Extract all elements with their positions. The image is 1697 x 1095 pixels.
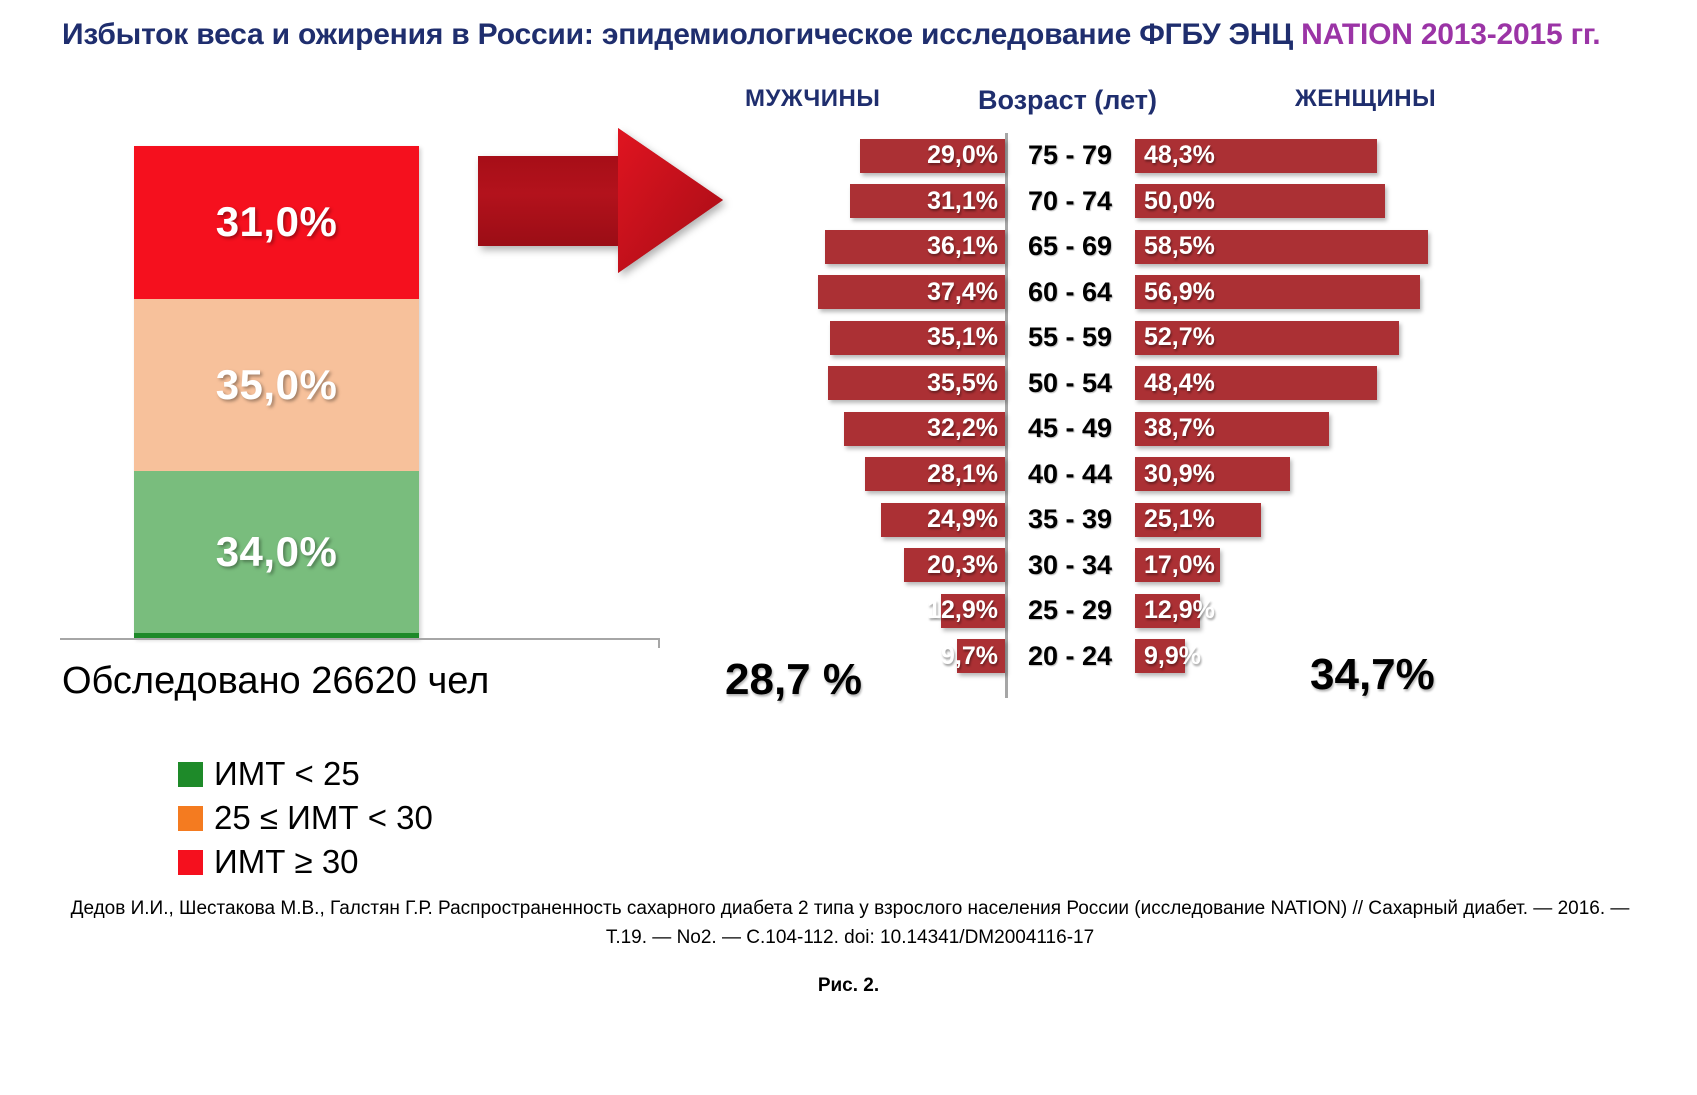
pyramid-age-label: 20 - 24 (1005, 641, 1135, 672)
pyramid-age-label: 40 - 44 (1005, 459, 1135, 490)
pyramid-bar-women-value: 12,9% (1144, 596, 1215, 625)
pyramid-bar-men: 9,7% (957, 639, 1006, 673)
pyramid-bar-men-value: 35,5% (927, 369, 998, 398)
right-arrow-icon (478, 128, 723, 368)
pyramid-row-men: 12,9% (700, 594, 1005, 628)
pyramid-bar-women: 30,9% (1135, 457, 1290, 491)
stack-segment-normal-label: 34,0% (216, 528, 338, 576)
pyramid-bar-men: 20,3% (904, 548, 1006, 582)
pyramid-age-label: 45 - 49 (1005, 413, 1135, 444)
pyramid-row: 28,1%40 - 4430,9% (700, 452, 1660, 498)
pyramid-row-women: 48,3% (1135, 139, 1635, 173)
pyramid-bar-women: 17,0% (1135, 548, 1220, 582)
pyramid-age-label: 25 - 29 (1005, 595, 1135, 626)
pyramid-bar-men: 31,1% (850, 184, 1006, 218)
pyramid-bar-women-value: 17,0% (1144, 551, 1215, 580)
page-title-accent: NATION 2013-2015 гг. (1301, 18, 1600, 51)
pyramid-row-women: 56,9% (1135, 275, 1635, 309)
pyramid-bar-women: 58,5% (1135, 230, 1428, 264)
pyramid-row-men: 37,4% (700, 275, 1005, 309)
pyramid-bar-women: 25,1% (1135, 503, 1261, 537)
pyramid-row: 35,5%50 - 5448,4% (700, 361, 1660, 407)
legend-item-normal-label: ИМТ < 25 (214, 755, 360, 793)
slide-canvas: Избыток веса и ожирения в России: эпидем… (0, 0, 1697, 1095)
pyramid-row-men: 35,5% (700, 366, 1005, 400)
pyramid-row-men: 35,1% (700, 321, 1005, 355)
legend-item-obese: ИМТ ≥ 30 (178, 840, 433, 884)
pyramid-bar-men-value: 28,1% (927, 460, 998, 489)
pyramid-bar-women-value: 58,5% (1144, 232, 1215, 261)
red-square-icon (178, 850, 203, 875)
pyramid-row: 37,4%60 - 6456,9% (700, 270, 1660, 316)
citation-text: Дедов И.И., Шестакова М.В., Галстян Г.Р.… (60, 895, 1640, 952)
pyramid-bar-women-value: 38,7% (1144, 414, 1215, 443)
stacked-bar-axis-line (60, 638, 660, 640)
pyramid-row-women: 12,9% (1135, 594, 1635, 628)
pyramid-row-men: 36,1% (700, 230, 1005, 264)
pyramid-bar-women-value: 25,1% (1144, 505, 1215, 534)
legend-item-overweight-label: 25 ≤ ИМТ < 30 (214, 799, 433, 837)
pyramid-bar-men: 35,1% (830, 321, 1006, 355)
stack-segment-normal: 34,0% (134, 471, 419, 638)
pyramid-header-women: ЖЕНЩИНЫ (1295, 85, 1436, 113)
pyramid-bar-men: 36,1% (825, 230, 1006, 264)
pyramid-age-label: 50 - 54 (1005, 368, 1135, 399)
pyramid-bar-women-value: 30,9% (1144, 460, 1215, 489)
pyramid-bar-men-value: 36,1% (927, 232, 998, 261)
stack-segment-overweight: 35,0% (134, 299, 419, 471)
stack-segment-obese: 31,0% (134, 146, 419, 299)
pyramid-bar-women-value: 56,9% (1144, 278, 1215, 307)
pyramid-row: 29,0%75 - 7948,3% (700, 133, 1660, 179)
pyramid-row-women: 48,4% (1135, 366, 1635, 400)
pyramid-bar-men-value: 29,0% (927, 141, 998, 170)
legend-item-normal: ИМТ < 25 (178, 752, 433, 796)
pyramid-bar-women-value: 9,9% (1144, 642, 1201, 671)
surveyed-count-label: Обследовано 26620 чел (62, 660, 489, 703)
pyramid-row-men: 28,1% (700, 457, 1005, 491)
pyramid-bar-men-value: 31,1% (927, 187, 998, 216)
pyramid-age-label: 55 - 59 (1005, 322, 1135, 353)
figure-caption: Рис. 2. (0, 975, 1697, 997)
pyramid-age-label: 35 - 39 (1005, 504, 1135, 535)
pyramid-bar-men-value: 35,1% (927, 323, 998, 352)
pyramid-bar-women-value: 48,4% (1144, 369, 1215, 398)
pyramid-bar-men: 28,1% (865, 457, 1006, 491)
pyramid-bar-men: 32,2% (844, 412, 1005, 446)
stacked-bar: 31,0% 35,0% 34,0% (134, 146, 419, 638)
pyramid-row-women: 58,5% (1135, 230, 1635, 264)
pyramid-bar-women: 9,9% (1135, 639, 1185, 673)
pyramid-row: 36,1%65 - 6958,5% (700, 224, 1660, 270)
pyramid-row-men: 32,2% (700, 412, 1005, 446)
pyramid-total-women: 34,7% (1310, 650, 1435, 700)
pyramid-bar-men: 29,0% (860, 139, 1005, 173)
pyramid-age-label: 70 - 74 (1005, 186, 1135, 217)
page-title-main: Избыток веса и ожирения в России: эпидем… (62, 18, 1301, 51)
pyramid-header-men: МУЖЧИНЫ (745, 85, 880, 113)
pyramid-row: 12,9%25 - 2912,9% (700, 588, 1660, 634)
pyramid-bar-men: 24,9% (881, 503, 1006, 537)
pyramid-bar-men-value: 37,4% (927, 278, 998, 307)
pyramid-bar-women: 12,9% (1135, 594, 1200, 628)
pyramid-age-label: 75 - 79 (1005, 140, 1135, 171)
pyramid-rows: 29,0%75 - 7948,3%31,1%70 - 7450,0%36,1%6… (700, 133, 1660, 679)
pyramid-bar-women: 38,7% (1135, 412, 1329, 446)
pyramid-bar-men: 35,5% (828, 366, 1006, 400)
pyramid-total-men: 28,7 % (725, 655, 862, 705)
pyramid-row: 31,1%70 - 7450,0% (700, 179, 1660, 225)
orange-square-icon (178, 806, 203, 831)
page-title: Избыток веса и ожирения в России: эпидем… (62, 18, 1632, 52)
pyramid-row-men: 24,9% (700, 503, 1005, 537)
pyramid-age-label: 65 - 69 (1005, 231, 1135, 262)
pyramid-bar-women: 50,0% (1135, 184, 1385, 218)
pyramid-row-men: 29,0% (700, 139, 1005, 173)
pyramid-row-men: 20,3% (700, 548, 1005, 582)
pyramid-bar-men: 12,9% (941, 594, 1006, 628)
pyramid-bar-women-value: 50,0% (1144, 187, 1215, 216)
pyramid-bar-women-value: 52,7% (1144, 323, 1215, 352)
stacked-bar-axis-tick (658, 638, 660, 648)
pyramid-age-label: 30 - 34 (1005, 550, 1135, 581)
pyramid-bar-women: 48,3% (1135, 139, 1377, 173)
pyramid-bar-women-value: 48,3% (1144, 141, 1215, 170)
pyramid-bar-men: 37,4% (818, 275, 1005, 309)
pyramid-row-women: 25,1% (1135, 503, 1635, 537)
age-pyramid-chart: МУЖЧИНЫ Возраст (лет) ЖЕНЩИНЫ 29,0%75 - … (700, 85, 1660, 705)
pyramid-row: 32,2%45 - 4938,7% (700, 406, 1660, 452)
pyramid-bar-men-value: 12,9% (927, 596, 998, 625)
stack-segment-obese-label: 31,0% (216, 198, 338, 246)
pyramid-header-age: Возраст (лет) (978, 85, 1157, 116)
pyramid-age-label: 60 - 64 (1005, 277, 1135, 308)
pyramid-row: 35,1%55 - 5952,7% (700, 315, 1660, 361)
pyramid-bar-women: 52,7% (1135, 321, 1399, 355)
pyramid-row: 24,9%35 - 3925,1% (700, 497, 1660, 543)
stack-segment-overweight-label: 35,0% (216, 361, 338, 409)
pyramid-bar-women: 48,4% (1135, 366, 1377, 400)
pyramid-row-women: 50,0% (1135, 184, 1635, 218)
pyramid-bar-women: 56,9% (1135, 275, 1420, 309)
pyramid-row-men: 31,1% (700, 184, 1005, 218)
pyramid-row-women: 17,0% (1135, 548, 1635, 582)
pyramid-row: 20,3%30 - 3417,0% (700, 543, 1660, 589)
legend-item-obese-label: ИМТ ≥ 30 (214, 843, 359, 881)
pyramid-bar-men-value: 9,7% (941, 642, 998, 671)
green-square-icon (178, 762, 203, 787)
pyramid-row-women: 52,7% (1135, 321, 1635, 355)
pyramid-row-women: 38,7% (1135, 412, 1635, 446)
legend-item-overweight: 25 ≤ ИМТ < 30 (178, 796, 433, 840)
pyramid-row-women: 30,9% (1135, 457, 1635, 491)
pyramid-bar-men-value: 32,2% (927, 414, 998, 443)
pyramid-bar-men-value: 20,3% (927, 551, 998, 580)
bmi-legend: ИМТ < 25 25 ≤ ИМТ < 30 ИМТ ≥ 30 (178, 752, 433, 884)
pyramid-bar-men-value: 24,9% (927, 505, 998, 534)
